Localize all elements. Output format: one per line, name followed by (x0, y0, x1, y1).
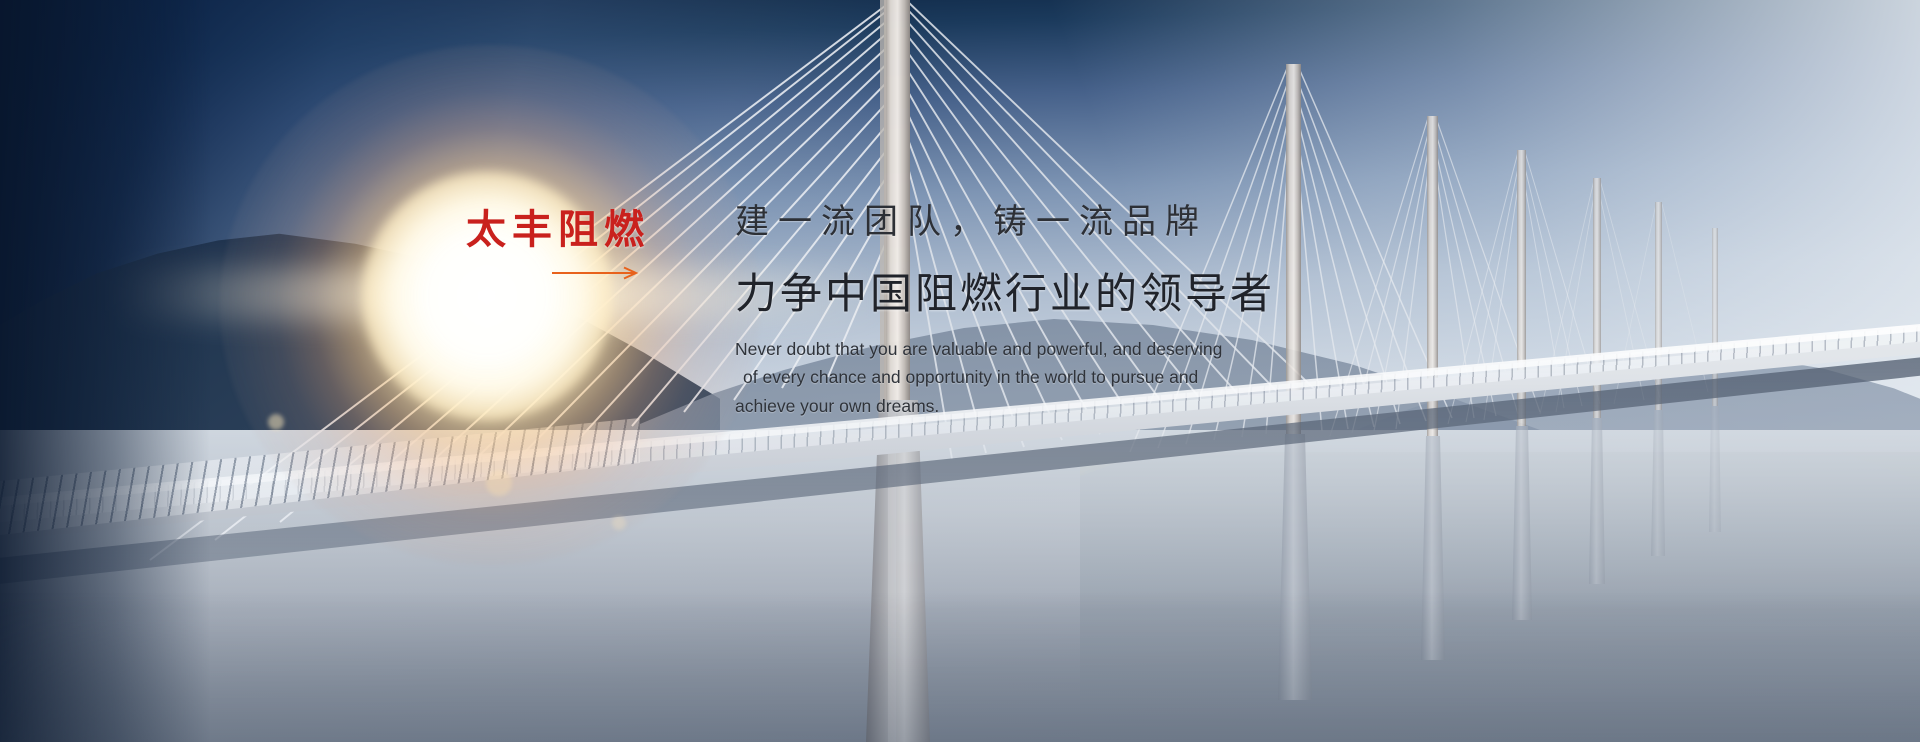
arrow-right-icon (552, 266, 640, 280)
banner-subcopy: Never doubt that you are valuable and po… (735, 335, 1310, 420)
subcopy-line-1: Never doubt that you are valuable and po… (735, 335, 1310, 363)
subcopy-line-3: achieve your own dreams. (735, 392, 1310, 420)
brand-logo[interactable]: 太丰阻燃 (466, 210, 666, 250)
hero-banner: 太丰阻燃 建一流团队，铸一流品牌 力争中国阻燃行业的领导者 Never doub… (0, 0, 1920, 742)
headline-secondary: 力争中国阻燃行业的领导者 (735, 260, 1275, 321)
banner-content: 太丰阻燃 建一流团队，铸一流品牌 力争中国阻燃行业的领导者 Never doub… (0, 0, 1920, 742)
brand-logo-text: 太丰阻燃 (466, 210, 666, 250)
headline-primary: 建一流团队，铸一流品牌 (735, 194, 1208, 243)
subcopy-line-2: of every chance and opportunity in the w… (735, 363, 1310, 391)
